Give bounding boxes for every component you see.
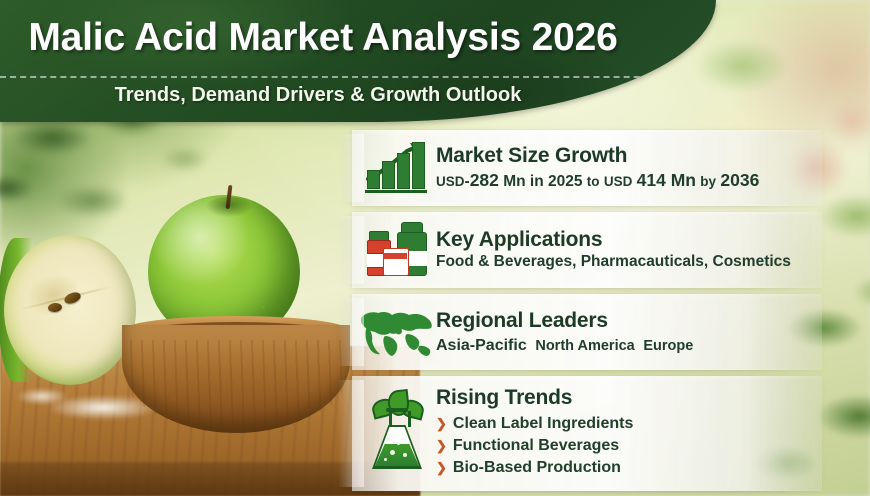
- card-title: Key Applications: [436, 228, 812, 252]
- value-to-prefix: USD: [604, 174, 633, 189]
- value-to-suffix: by: [700, 174, 716, 189]
- card-text: Key Applications Food & Beverages, Pharm…: [436, 228, 812, 272]
- card-title: Market Size Growth: [436, 144, 812, 168]
- bar-3: [397, 153, 410, 189]
- list-item: ❯ Clean Label Ingredients: [436, 413, 812, 435]
- value-to: 414 Mn: [637, 170, 696, 190]
- card-market-size-growth: Market Size Growth USD-282 Mn in 2025 to…: [352, 130, 822, 206]
- bullet-arrow-icon: ❯: [436, 439, 447, 452]
- chart-baseline: [365, 190, 427, 193]
- trend-label: Functional Beverages: [453, 435, 619, 457]
- lab-flask-leaf-icon: [358, 386, 436, 478]
- bar-chart-growth-icon: [358, 137, 436, 199]
- banner-divider: [0, 76, 690, 78]
- value-prefix: USD: [436, 174, 465, 189]
- card-rising-trends: Rising Trends ❯ Clean Label Ingredients …: [352, 376, 822, 491]
- region-europe: Europe: [643, 338, 693, 354]
- trend-list: ❯ Clean Label Ingredients ❯ Functional B…: [436, 413, 812, 479]
- header-banner: Malic Acid Market Analysis 2026 Trends, …: [0, 0, 716, 122]
- value-connector: to: [587, 174, 600, 189]
- bullet-arrow-icon: ❯: [436, 417, 447, 430]
- bubble: [403, 453, 407, 457]
- card-title: Rising Trends: [436, 386, 812, 410]
- halved-apple: [4, 235, 136, 385]
- list-item: ❯ Bio-Based Production: [436, 457, 812, 479]
- card-subtitle: USD-282 Mn in 2025 to USD 414 Mn by 2036: [436, 170, 812, 192]
- card-subtitle: Food & Beverages, Pharmacauticals, Cosme…: [436, 253, 812, 272]
- region-north-america: North America: [535, 338, 634, 354]
- region-list: Asia-Pacific North America Europe: [436, 337, 812, 355]
- trend-label: Bio-Based Production: [453, 457, 621, 479]
- card-text: Rising Trends ❯ Clean Label Ingredients …: [436, 386, 812, 479]
- page-title: Malic Acid Market Analysis 2026: [0, 16, 716, 60]
- card-title: Regional Leaders: [436, 309, 812, 333]
- infographic-canvas: Malic Acid Market Analysis 2026 Trends, …: [0, 0, 870, 496]
- bubble: [397, 442, 400, 445]
- card-regional-leaders: Regional Leaders Asia-Pacific North Amer…: [352, 294, 822, 370]
- flask-neck: [389, 411, 411, 427]
- value-from-unit: Mn in 2025: [503, 173, 582, 190]
- bottle-stripe-white: [383, 253, 407, 259]
- bubble: [390, 450, 395, 455]
- card-text: Market Size Growth USD-282 Mn in 2025 to…: [436, 144, 812, 191]
- value-from: 282: [470, 170, 499, 190]
- bullet-arrow-icon: ❯: [436, 461, 447, 474]
- medicine-bottles-icon: [358, 219, 436, 281]
- value-to-year: 2036: [720, 170, 759, 190]
- list-item: ❯ Functional Beverages: [436, 435, 812, 457]
- card-text: Regional Leaders Asia-Pacific North Amer…: [436, 309, 812, 355]
- bar-4: [412, 142, 425, 189]
- world-map-svg: [359, 306, 435, 358]
- bar-1: [367, 170, 380, 189]
- world-map-icon: [358, 301, 436, 363]
- card-key-applications: Key Applications Food & Beverages, Pharm…: [352, 212, 822, 288]
- page-subtitle: Trends, Demand Drivers & Growth Outlook: [0, 84, 716, 107]
- bubble: [386, 437, 390, 441]
- trend-label: Clean Label Ingredients: [453, 413, 633, 435]
- bubble: [384, 458, 387, 461]
- region-asia-pacific: Asia-Pacific: [436, 337, 527, 354]
- bar-2: [382, 161, 395, 189]
- highlight-card-list: Market Size Growth USD-282 Mn in 2025 to…: [352, 130, 822, 496]
